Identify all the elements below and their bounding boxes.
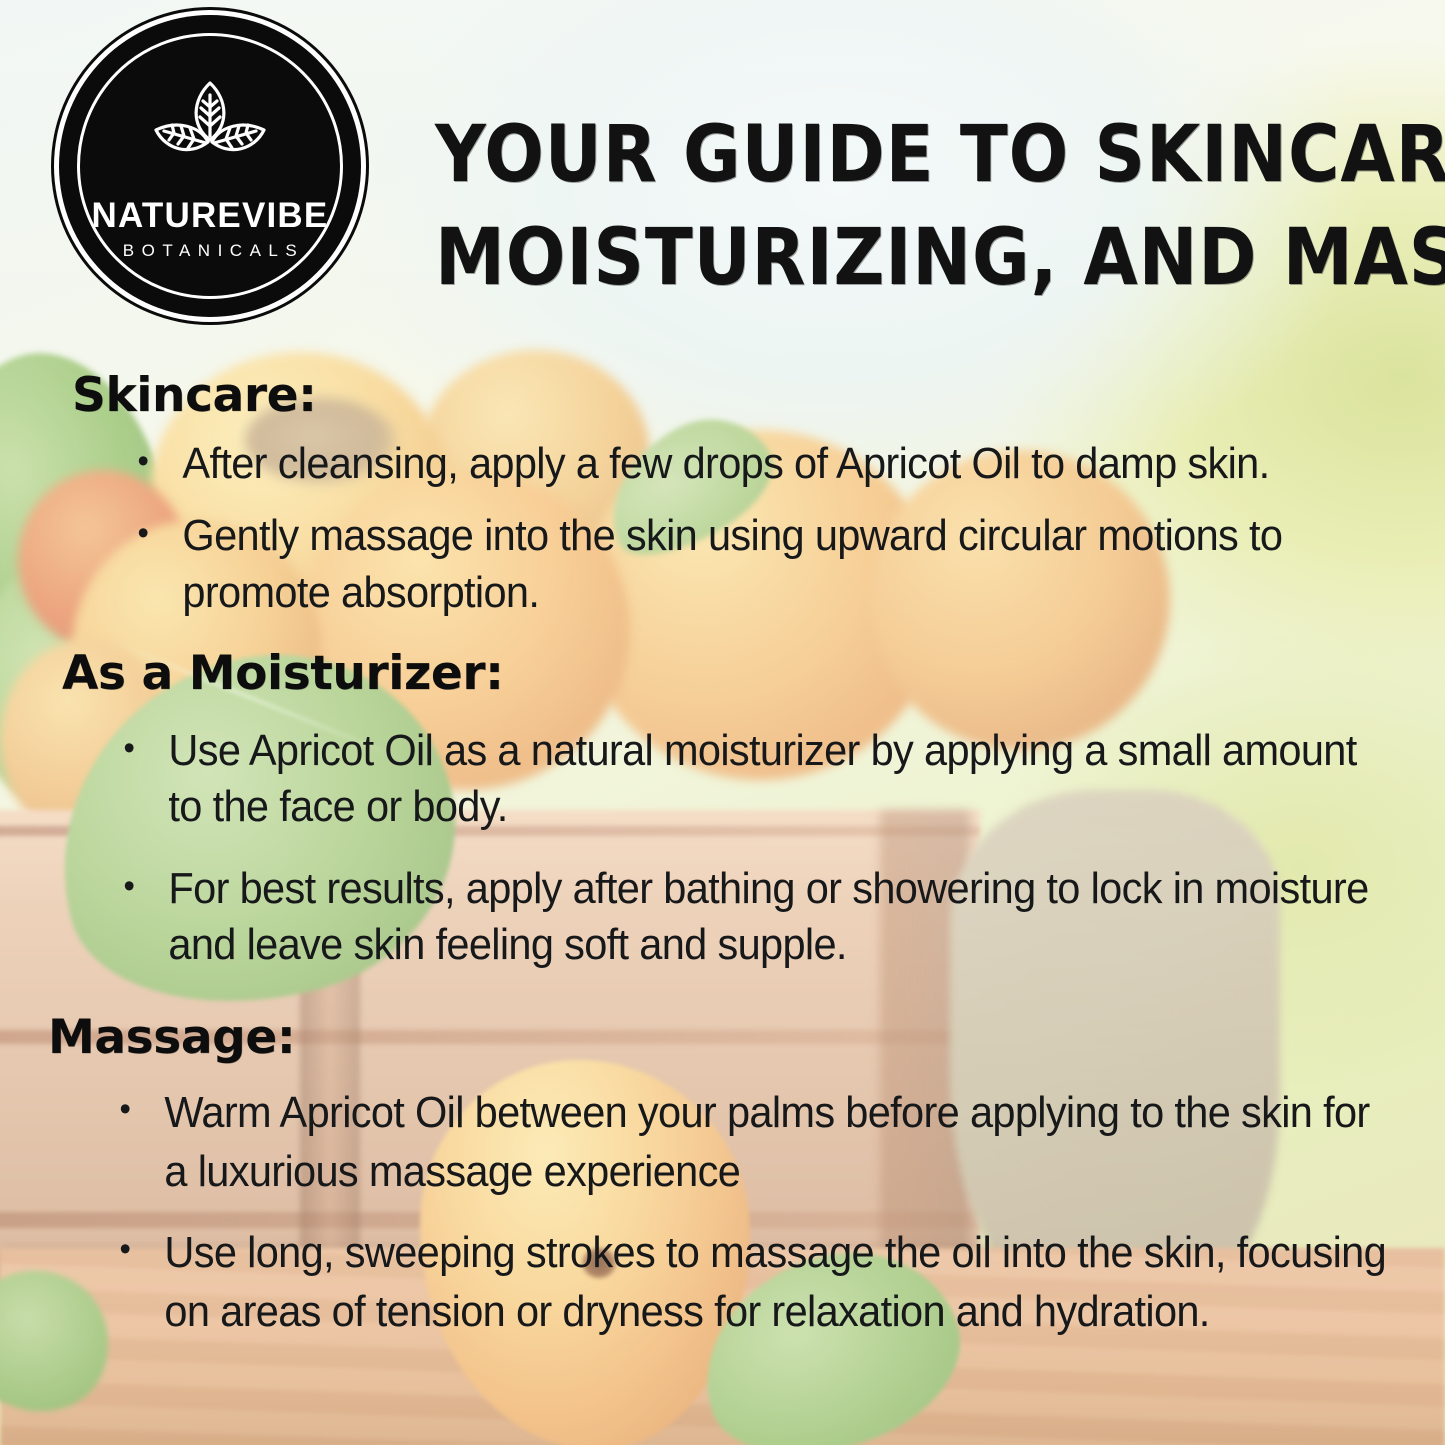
infographic-poster: NATUREVIBE BOTANICALS YOUR GUIDE TO SKIN… [0,0,1445,1445]
bullet-list: After cleansing, apply a few drops of Ap… [128,436,1445,622]
guide-content: Skincare: After cleansing, apply a few d… [0,372,1445,1342]
page-title-line-2: MOISTURIZING, AND MASSAGE [435,207,1335,310]
list-item: Warm Apricot Oil between your palms befo… [110,1084,1390,1202]
list-item: Use Apricot Oil as a natural moisturizer… [114,723,1384,836]
list-item: For best results, apply after bathing or… [114,861,1384,974]
trillium-three-leaf-icon [144,78,276,186]
list-item: Use long, sweeping strokes to massage th… [110,1224,1390,1342]
section-heading: Skincare: [72,372,1445,420]
bullet-list: Use Apricot Oil as a natural moisturizer… [114,723,1444,974]
section-moisturizer: As a Moisturizer: Use Apricot Oil as a n… [62,650,1445,974]
section-heading: As a Moisturizer: [62,650,1445,698]
page-title: YOUR GUIDE TO SKINCARE, MOISTURIZING, AN… [385,104,1385,310]
list-item: After cleansing, apply a few drops of Ap… [128,436,1389,493]
logo-wordmark: NATUREVIBE [92,198,329,233]
bullet-list: Warm Apricot Oil between your palms befo… [110,1084,1445,1343]
page-title-line-1: YOUR GUIDE TO SKINCARE, [435,104,1335,207]
list-item: Gently massage into the skin using upwar… [128,508,1389,621]
section-heading: Massage: [48,1014,1445,1062]
logo-subword: BOTANICALS [116,242,304,259]
section-skincare: Skincare: After cleansing, apply a few d… [72,372,1445,622]
section-massage: Massage: Warm Apricot Oil between your p… [48,1014,1445,1343]
naturevibe-logo[interactable]: NATUREVIBE BOTANICALS [64,20,356,312]
